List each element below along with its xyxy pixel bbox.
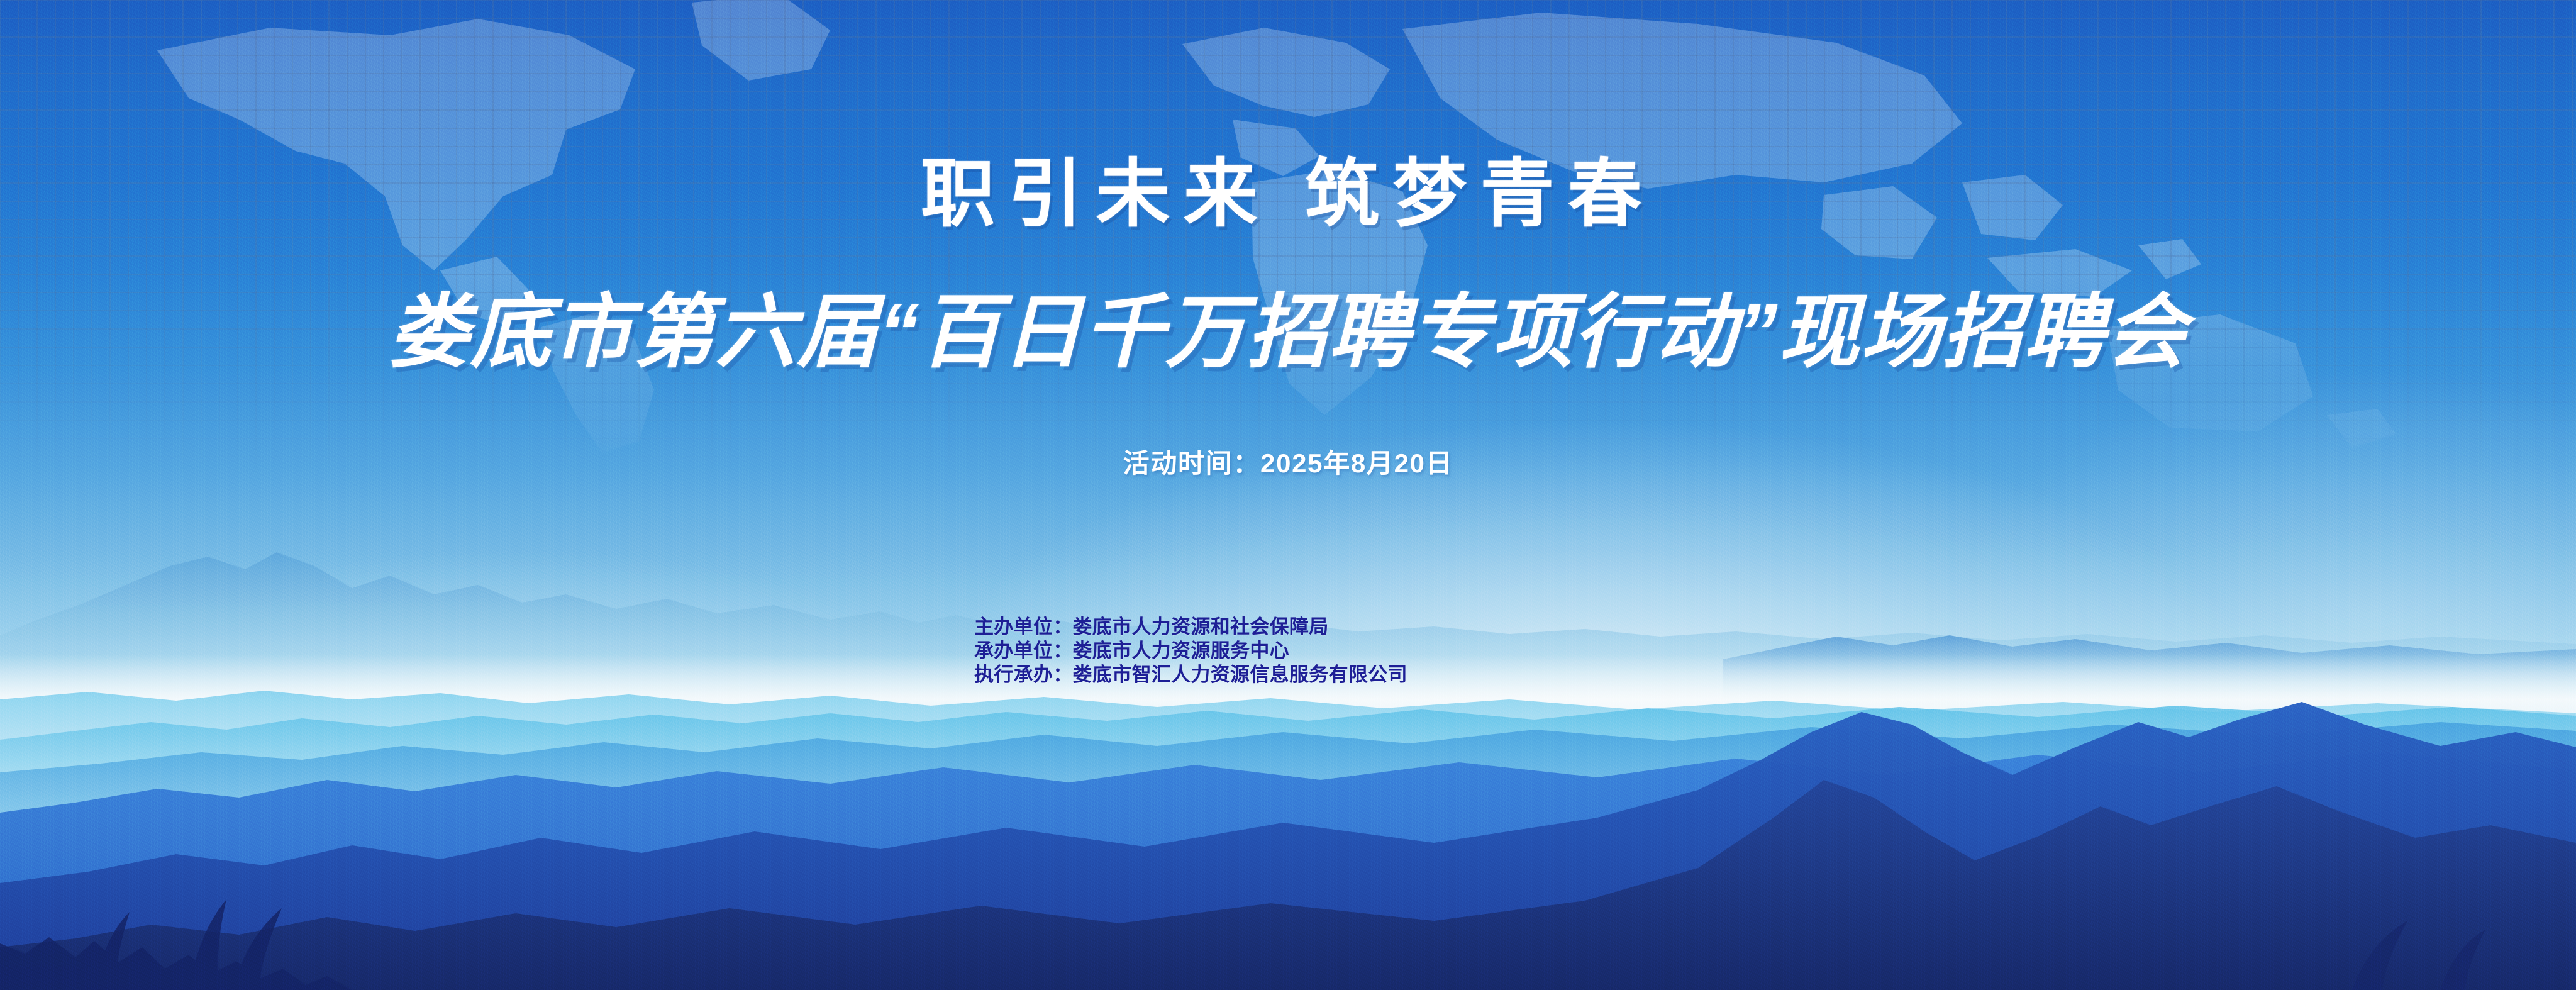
poster-headline: 职引未来 筑梦青春	[0, 157, 2576, 231]
organizer-line-host: 主办单位：娄底市人力资源和社会保障局	[974, 615, 1407, 639]
event-date-text: 活动时间：2025年8月20日	[0, 442, 2576, 481]
organizer-info-block: 主办单位：娄底市人力资源和社会保障局 承办单位：娄底市人力资源服务中心 执行承办…	[974, 615, 1407, 687]
recruitment-poster-banner: 职引未来 筑梦青春 娄底市第六届“百日千万招聘专项行动”现场招聘会 活动时间：2…	[0, 0, 2576, 990]
poster-text-content: 职引未来 筑梦青春 娄底市第六届“百日千万招聘专项行动”现场招聘会 活动时间：2…	[0, 0, 2576, 990]
organizer-line-executor: 执行承办：娄底市智汇人力资源信息服务有限公司	[974, 663, 1407, 687]
organizer-line-coorganizer: 承办单位：娄底市人力资源服务中心	[974, 639, 1407, 663]
page-title: 娄底市第六届“百日千万招聘专项行动”现场招聘会	[0, 286, 2576, 379]
